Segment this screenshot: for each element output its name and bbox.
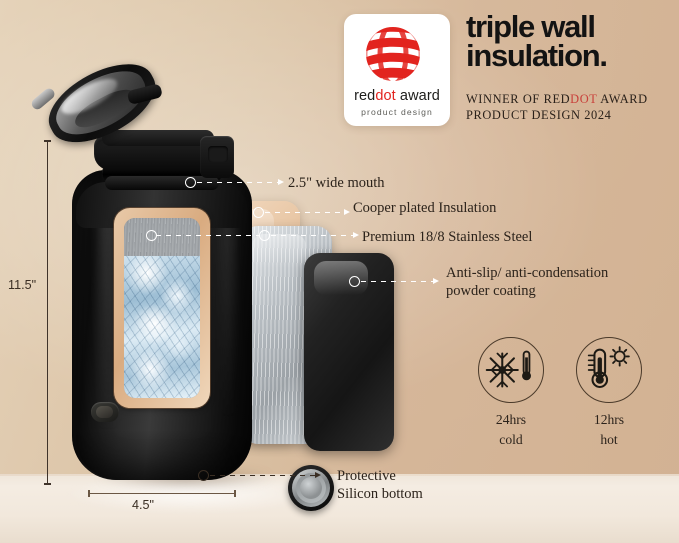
reddot-subtitle: product design <box>344 107 450 117</box>
headline-subtitle: WINNER OF REDDOT AWARD PRODUCT DESIGN 20… <box>466 92 678 123</box>
cold-hours-unit: cold <box>499 432 522 447</box>
bottle-logo-badge <box>91 402 119 422</box>
reddot-word-award: award <box>396 88 440 104</box>
callout-arrow-wide-mouth <box>278 179 284 185</box>
callout-marker-wide-mouth <box>185 177 196 188</box>
bottle-highlight-right <box>222 200 234 420</box>
callout-marker-silicon <box>198 470 209 481</box>
cold-retention-label: 24hrs cold <box>463 410 559 449</box>
subtitle-line-2: PRODUCT DESIGN 2024 <box>466 108 611 122</box>
ice-cubes <box>124 256 200 398</box>
callout-label-steel: Premium 18/8 Stainless Steel <box>362 229 532 247</box>
height-dimension-line <box>47 140 48 485</box>
bottle-base-shading <box>76 430 248 480</box>
reddot-word-red: red <box>354 88 375 104</box>
callout-arrow-silicon <box>315 472 321 478</box>
hot-hours-unit: hot <box>600 432 617 447</box>
callout-label-silicon: Protective Silicon bottom <box>337 468 423 503</box>
hot-retention-label: 12hrs hot <box>561 410 657 449</box>
puck-center <box>300 477 322 499</box>
reddot-word-dot: dot <box>375 88 395 104</box>
callout-arrow-powder <box>433 278 439 284</box>
reddot-award-badge: reddot award product design <box>344 14 450 126</box>
width-dimension-label: 4.5" <box>132 498 154 512</box>
hot-hours-value: 12hrs <box>594 412 624 427</box>
bottle-neck-ring-lower <box>105 176 219 190</box>
cold-retention-circle <box>478 337 544 403</box>
callout-leader-silicon <box>210 475 316 476</box>
callout-label-wide-mouth: 2.5" wide mouth <box>288 175 385 193</box>
callout-leader-wide-mouth <box>197 182 279 183</box>
silicon-bottom-puck <box>288 465 334 511</box>
callout-marker-copper <box>253 207 264 218</box>
swatch-gloss <box>314 261 368 295</box>
callout-marker-powder <box>349 276 360 287</box>
thermometer-sun-icon <box>577 338 641 402</box>
callout-label-copper: Cooper plated Insulation <box>353 200 496 218</box>
callout-label-powder: Anti-slip/ anti-condensation powder coat… <box>446 265 608 300</box>
subtitle-pre: WINNER OF RED <box>466 92 570 106</box>
subtitle-reddot: DOT <box>570 92 597 106</box>
callout-leader-powder <box>361 281 434 282</box>
lid-latch-inset <box>208 146 228 162</box>
callout-leader-steel <box>271 235 354 236</box>
cutaway-window <box>124 218 200 398</box>
callout-leader-copper <box>265 212 345 213</box>
hot-retention-circle <box>576 337 642 403</box>
callout-marker-steel <box>259 230 270 241</box>
reddot-wordmark: reddot award <box>344 88 450 104</box>
headline: triple wall insulation. <box>466 12 679 71</box>
callout-leader-steel-a <box>156 235 260 236</box>
callout-arrow-steel <box>353 232 359 238</box>
product-infographic: reddot award product design triple wall … <box>0 0 679 543</box>
cold-hours-value: 24hrs <box>496 412 526 427</box>
subtitle-post: AWARD <box>597 92 647 106</box>
height-dimension-label: 11.5" <box>8 278 36 292</box>
ice-texture <box>124 256 200 398</box>
snowflake-thermometer-icon <box>479 338 543 402</box>
callout-arrow-copper <box>344 209 350 215</box>
width-dimension-line <box>88 493 236 494</box>
headline-line-2: insulation. <box>466 41 679 70</box>
reddot-sphere-icon <box>362 23 424 85</box>
